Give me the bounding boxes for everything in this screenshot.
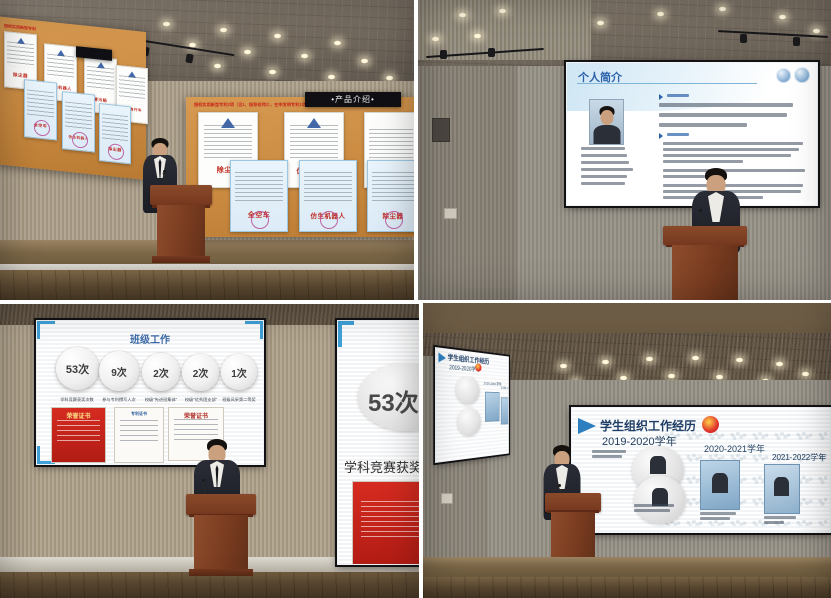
section-marker-icon xyxy=(659,94,663,100)
award-title: 荣誉证书 xyxy=(52,411,105,420)
entry-note xyxy=(592,450,626,453)
field-phone xyxy=(581,175,627,178)
profile-card xyxy=(485,392,500,422)
photo-collage: 授权实用新型专利 除尘器 仿生机器人 清污船 xyxy=(0,0,831,598)
certificate: 仿生机器人 xyxy=(299,160,357,232)
award-title: 专利证书 xyxy=(115,411,163,417)
spotlight xyxy=(488,48,495,57)
slide-title: 学生组织工作经历 xyxy=(600,417,696,434)
youth-league-emblem-icon xyxy=(475,363,481,372)
year-label: 2020-2021学年 xyxy=(484,381,502,387)
downlight xyxy=(667,373,676,379)
screen-content: 学生组织工作经历 2019-2020学年 2020-2021学年 2021-20… xyxy=(572,408,830,532)
downlight xyxy=(656,11,665,17)
stage-scene: 授权实用新型专利 除尘器 仿生机器人 清污船 xyxy=(0,0,414,300)
podium-body xyxy=(194,515,249,576)
profile-silhouette xyxy=(712,473,728,493)
spotlight xyxy=(440,50,447,59)
entry-note xyxy=(700,517,730,520)
shoulders xyxy=(593,125,620,144)
product-introduction-board: 授权实用新型专利2项（见1、指导老师2），在申发明专利1项（见4），实用新型 除… xyxy=(186,97,414,237)
seal-icon xyxy=(108,143,124,161)
wall-speaker-box xyxy=(432,118,450,142)
downlight xyxy=(213,63,222,69)
led-screen-left: 学生组织工作经历 2019-2020学年 2020-2021学年 2021-20… xyxy=(435,347,509,463)
triangle-marker-icon xyxy=(578,418,596,434)
downlight xyxy=(498,8,507,14)
frame-corner-icon xyxy=(260,321,263,339)
profile-oval xyxy=(457,408,481,437)
ceiling-upper-band xyxy=(423,303,831,333)
downlight xyxy=(718,6,727,12)
award-body-lines xyxy=(120,420,158,444)
profile-photo xyxy=(589,99,624,145)
downlight xyxy=(778,14,787,20)
podium-top xyxy=(663,226,747,245)
certificate-body-lines xyxy=(65,101,91,129)
certificate-body-lines xyxy=(119,75,144,102)
seal-icon xyxy=(385,211,403,229)
award-body-lines xyxy=(361,501,419,540)
year-label: 2021-2022学年 xyxy=(501,385,508,391)
certificate: 除尘器 xyxy=(99,103,131,164)
podium-top xyxy=(186,494,256,515)
podium-body xyxy=(157,205,205,263)
bullet-line xyxy=(663,154,791,157)
downlight xyxy=(300,53,309,59)
field-position xyxy=(581,182,625,185)
stage-scene: 学生组织工作经历 2019-2020学年 2020-2021学年 2021-20… xyxy=(423,303,831,598)
profile-silhouette xyxy=(650,456,666,474)
frame-corner-icon xyxy=(338,321,342,347)
award-certificate: 荣誉证书 xyxy=(51,407,106,463)
youth-league-emblem-icon xyxy=(702,416,719,433)
bullet-line xyxy=(663,142,803,145)
stage-scene: 班级工作 53次 9次 2次 2次 xyxy=(0,304,419,598)
stat-circle: 9次 xyxy=(99,351,139,391)
bullet-line xyxy=(663,148,799,151)
stat-value: 2次 xyxy=(153,365,169,380)
panel-class-work: 班级工作 53次 9次 2次 2次 xyxy=(0,304,419,598)
wall-outlet xyxy=(444,208,457,219)
stat-value: 1次 xyxy=(231,365,247,380)
college-badge-icon xyxy=(794,67,810,83)
downlight xyxy=(268,69,277,75)
seal-icon xyxy=(320,211,338,229)
world-map-decoration xyxy=(662,426,827,526)
stat-circle: 2次 xyxy=(182,354,219,391)
stat-value: 9次 xyxy=(111,364,127,379)
downlight xyxy=(812,28,821,34)
downlight xyxy=(735,357,744,363)
podium xyxy=(545,493,601,565)
stat-circle: 2次 xyxy=(142,353,180,391)
frame-corner-icon xyxy=(37,321,40,339)
section-basic-info-label xyxy=(667,94,689,97)
downlight xyxy=(691,355,700,361)
podium-body xyxy=(672,245,738,300)
downlight xyxy=(327,74,336,80)
spotlight xyxy=(740,34,747,43)
downlight xyxy=(473,33,482,39)
downlight xyxy=(243,49,252,55)
certificate-body-lines xyxy=(304,172,351,204)
certificate-body-lines xyxy=(369,129,413,163)
certificate-body-lines xyxy=(235,172,282,204)
left-certificate-board: 授权实用新型专利 除尘器 仿生机器人 清污船 xyxy=(0,16,146,180)
profile-silhouette xyxy=(774,477,789,496)
seal-icon xyxy=(251,211,269,229)
entry-note xyxy=(634,509,670,512)
downlight xyxy=(775,361,784,367)
row-gpa-ranks xyxy=(659,113,787,117)
award-certificate: 专利证书 xyxy=(114,407,164,463)
profile-card xyxy=(700,460,740,510)
stat-circle: 53次 xyxy=(56,347,99,390)
led-screen-main: 学生组织工作经历 2019-2020学年 2020-2021学年 2021-20… xyxy=(571,407,831,533)
podium xyxy=(186,494,256,576)
profile-card xyxy=(764,464,800,514)
year-label: 2020-2021学年 xyxy=(704,442,765,455)
certificate-body-lines xyxy=(204,125,253,159)
section-research-label xyxy=(667,133,689,136)
field-name xyxy=(581,147,625,150)
wall-outlet xyxy=(441,493,453,504)
floor-planks xyxy=(423,577,831,598)
certificate-body-lines xyxy=(87,65,113,93)
slide-student-organization-left: 学生组织工作经历 2019-2020学年 2020-2021学年 2021-20… xyxy=(436,348,508,462)
microphone-head-icon xyxy=(558,484,561,487)
certificate: 除尘器 xyxy=(367,160,414,232)
slide-student-organization: 学生组织工作经历 2019-2020学年 2020-2021学年 2021-20… xyxy=(572,408,830,532)
head xyxy=(600,110,613,125)
triangle-marker-icon xyxy=(438,352,446,363)
certificate: 全空车 xyxy=(24,79,57,140)
frame-corner-icon xyxy=(37,446,40,464)
downlight xyxy=(559,363,568,369)
certificate-body-lines xyxy=(102,113,127,141)
microphone-head-icon xyxy=(699,209,702,212)
microphone-head-icon xyxy=(202,479,205,482)
seal-icon xyxy=(34,119,50,137)
big-stat-value: 53次 xyxy=(368,383,419,418)
floor-planks xyxy=(0,270,414,300)
certificate: 仿生机器人 xyxy=(62,91,95,152)
certificate: 全空车 xyxy=(230,160,288,232)
certificate-body-lines xyxy=(27,89,53,117)
entry-note xyxy=(764,521,784,524)
award-title: 荣誉证书 xyxy=(169,411,223,420)
slide-title: 班级工作 xyxy=(130,331,170,346)
entry-note xyxy=(764,516,796,519)
field-hometown xyxy=(581,161,629,164)
microphone-head-icon xyxy=(163,170,166,173)
podium-base xyxy=(152,256,209,263)
big-stat-caption: 学科竞赛获奖 xyxy=(344,457,419,476)
university-badge-icon xyxy=(776,68,791,83)
entry-note xyxy=(592,455,622,458)
stat-caption: 班级风采第二等奖 xyxy=(213,397,263,403)
certificate-body-lines xyxy=(290,125,339,159)
podium xyxy=(150,185,212,263)
screen-content: 学生组织工作经历 2019-2020学年 2020-2021学年 2021-20… xyxy=(436,348,508,462)
award-certificate xyxy=(352,481,419,564)
screen-content: 53次 学科竞赛获奖 xyxy=(338,321,419,564)
floor xyxy=(423,577,831,598)
profile-card xyxy=(501,397,508,424)
profile-oval xyxy=(634,476,686,524)
downlight xyxy=(162,21,171,27)
field-political-status xyxy=(581,168,633,171)
led-screen-secondary: 53次 学科竞赛获奖 xyxy=(337,320,419,565)
downlight xyxy=(360,58,369,64)
downlight xyxy=(273,33,282,39)
downlight xyxy=(458,12,467,18)
downlight xyxy=(333,40,342,46)
downlight xyxy=(601,359,610,365)
panel-product-introduction: 授权实用新型专利 除尘器 仿生机器人 清污船 xyxy=(0,0,414,300)
entry-note xyxy=(634,504,674,507)
spotlight xyxy=(185,54,193,64)
row-cet xyxy=(659,123,747,127)
downlight xyxy=(431,36,440,42)
section-marker-icon xyxy=(659,133,663,139)
podium-top xyxy=(150,185,212,205)
row-school-major-grade xyxy=(659,103,793,107)
side-wall xyxy=(418,66,517,300)
panel-personal-profile: 个人简介 xyxy=(418,0,831,300)
certificate-body-lines xyxy=(47,53,73,81)
certificate-body-lines xyxy=(7,41,33,69)
downlight xyxy=(596,20,605,26)
profile-oval xyxy=(456,375,480,404)
downlight xyxy=(645,356,654,362)
spotlight xyxy=(793,37,800,46)
seal-icon xyxy=(72,131,88,149)
panel-student-organization: 学生组织工作经历 2019-2020学年 2020-2021学年 2021-20… xyxy=(423,303,831,598)
stat-value: 2次 xyxy=(193,365,209,380)
stage-scene: 个人简介 xyxy=(418,0,831,300)
entry-note xyxy=(700,512,736,515)
title-underline xyxy=(577,83,757,84)
field-birthday xyxy=(581,154,627,157)
podium xyxy=(663,226,747,300)
podium-top xyxy=(545,493,601,512)
award-body-lines xyxy=(57,420,99,444)
floor xyxy=(0,270,414,300)
stat-circle: 1次 xyxy=(221,354,257,390)
downlight xyxy=(801,371,810,377)
year-label: 2021-2022学年 xyxy=(772,452,826,463)
downlight xyxy=(219,27,228,33)
certificate-body-lines xyxy=(372,172,414,204)
bullet-line xyxy=(663,160,743,163)
product-introduction-banner: •产品介绍• xyxy=(305,92,401,107)
podium-base xyxy=(189,569,253,576)
stat-value: 53次 xyxy=(66,361,89,377)
slide-competition-awards: 53次 学科竞赛获奖 xyxy=(338,321,419,564)
